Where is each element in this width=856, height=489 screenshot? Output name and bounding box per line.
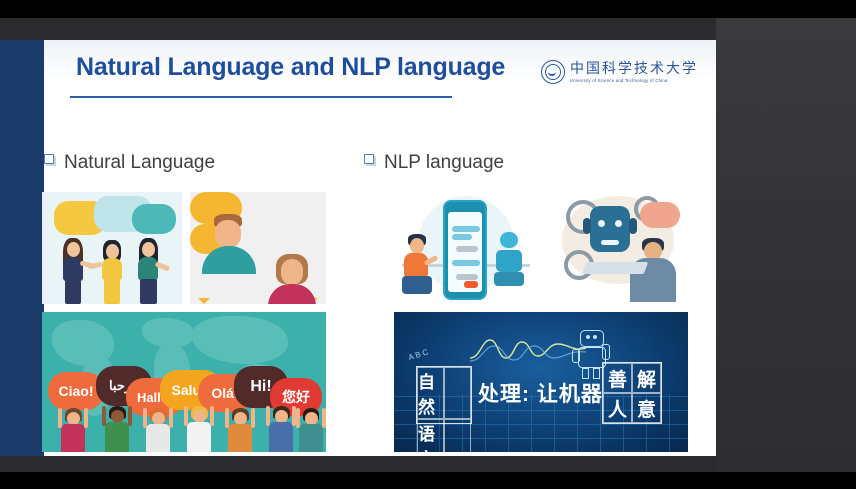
nlp-word-block-right: 善 解 人 意 — [602, 362, 662, 424]
letterbox-top — [0, 0, 856, 18]
nlp-char: 解 — [632, 363, 661, 393]
greeting-text: Ciao! — [59, 383, 94, 399]
laptop-graphic — [582, 262, 648, 274]
nlp-word-block-left: 自然 语言 — [416, 366, 472, 424]
page-title: Natural Language and NLP language — [76, 53, 505, 82]
abc-decor-text: ABC — [407, 347, 431, 362]
column-heading-label: Natural Language — [64, 152, 215, 174]
column-heading-natural-language: Natural Language — [44, 152, 215, 174]
kid-figure — [264, 406, 298, 452]
smartphone-frame — [443, 200, 487, 300]
kid-figure — [100, 406, 134, 452]
share-strip-bottom — [0, 456, 716, 472]
letterbox-bottom — [0, 472, 856, 489]
title-underline — [70, 96, 452, 98]
ustc-seal-icon — [541, 60, 565, 84]
column-heading-label: NLP language — [384, 152, 504, 174]
screen-share-window: Natural Language and NLP language 中国科学技术… — [0, 0, 856, 489]
kid-figure — [224, 408, 256, 452]
nlp-char — [444, 367, 471, 419]
robot-head-icon — [590, 206, 630, 252]
logo-name-en: University of Science and Technology of … — [570, 78, 698, 83]
figure — [134, 238, 170, 304]
kid-figure — [182, 406, 216, 452]
image-nlp-banner: ABC 自然 语言 处理: 让机器 — [394, 312, 688, 452]
participant-video-strip[interactable]: 张效初 — [716, 18, 856, 472]
shared-slide: Natural Language and NLP language 中国科学技术… — [0, 40, 716, 456]
image-two-speakers — [190, 192, 326, 304]
kid-figure — [296, 408, 326, 452]
figure-female — [266, 254, 318, 304]
image-chatbot-phone — [394, 192, 540, 304]
square-bullet-icon — [44, 154, 54, 164]
speech-bubble-icon — [132, 204, 176, 234]
image-world-greetings: Ciao! مرحبا Hallo! Salut! Olá! Hi! 您好 — [42, 312, 326, 452]
nlp-char: 人 — [603, 393, 632, 423]
greeting-text: 您好 — [282, 387, 310, 407]
figure — [97, 240, 129, 304]
nlp-banner-main-text: 处理: 让机器 — [478, 378, 603, 408]
speech-bubble-icon — [640, 202, 680, 228]
nlp-char: 自然 — [417, 367, 444, 419]
waveform-graphic — [470, 334, 586, 364]
kid-figure — [142, 408, 174, 452]
image-robot-gears — [548, 190, 688, 304]
logo-name-cn: 中国科学技术大学 — [570, 61, 698, 76]
square-bullet-icon — [364, 154, 374, 164]
slide-header: Natural Language and NLP language 中国科学技术… — [44, 40, 716, 108]
nlp-char — [444, 419, 471, 452]
robot-figure — [494, 232, 524, 286]
nlp-char: 善 — [603, 363, 632, 393]
image-conversation-group — [42, 192, 182, 304]
figure-person — [400, 234, 438, 296]
figure — [58, 238, 92, 304]
nlp-char: 语言 — [417, 419, 444, 452]
chat-screen — [448, 212, 482, 292]
university-logo: 中国科学技术大学 University of Science and Techn… — [541, 54, 698, 90]
column-heading-nlp-language: NLP language — [364, 152, 504, 174]
greeting-text: Hi! — [250, 378, 271, 396]
kid-figure — [56, 408, 90, 452]
nlp-char: 意 — [632, 393, 661, 423]
slide-left-accent-bar — [0, 40, 44, 456]
share-strip-top — [0, 18, 716, 40]
figure-male — [202, 214, 256, 274]
